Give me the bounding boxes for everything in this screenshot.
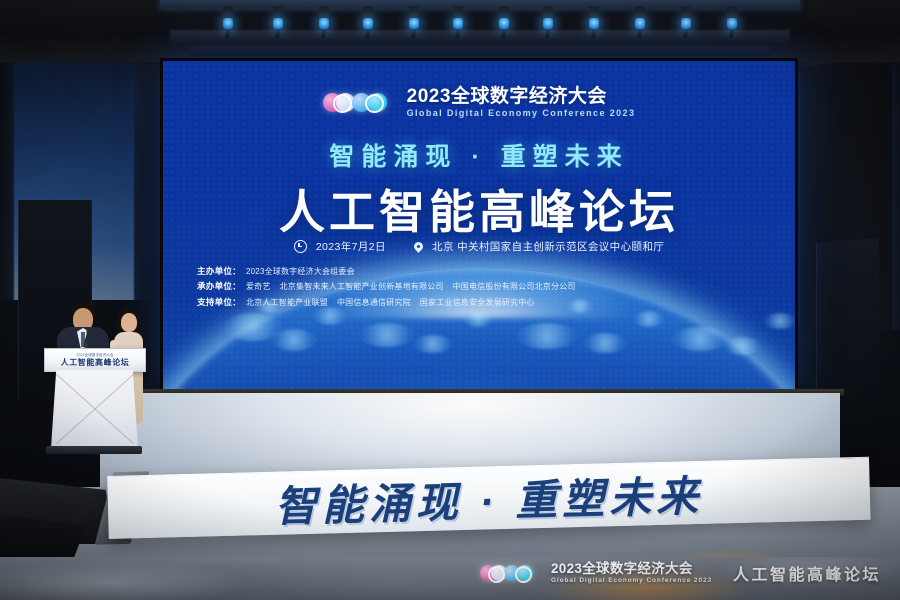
stage-light-2 — [272, 6, 284, 36]
organizer-values: 2023全球数字经济大会组委会 — [246, 267, 364, 276]
gdec-logo-icon-bottom — [480, 563, 542, 583]
stage-light-4 — [362, 6, 374, 36]
bottom-forum-cn: 人工智能高峰论坛 — [733, 561, 881, 585]
conference-name-en: Global Digital Economy Conference 2023 — [407, 109, 636, 118]
organizer-item: 2023全球数字经济大会组委会 — [246, 267, 355, 276]
podium-sign: 2023全球数字经济大会 人工智能高峰论坛 — [44, 348, 146, 372]
event-date: 2023年7月2日 — [316, 239, 386, 254]
ceiling-band-lower — [190, 46, 770, 56]
location-pin-icon — [412, 240, 425, 253]
podium-sign-text: 人工智能高峰论坛 — [45, 357, 145, 368]
organizer-values: 爱奇艺北京集智未来人工智能产业创新基地有限公司中国电信股份有限公司北京分公司 — [246, 282, 585, 291]
podium-logo-text: 2023全球数字经济大会 — [76, 352, 113, 357]
conference-stage-photo: 2023全球数字经济大会 Global Digital Economy Conf… — [0, 0, 900, 600]
event-venue: 北京 中关村国家自主创新示范区会议中心颐和厅 — [432, 239, 664, 254]
stage-light-11 — [680, 6, 692, 36]
event-meta-row: 2023年7月2日 北京 中关村国家自主创新示范区会议中心颐和厅 — [163, 239, 795, 254]
bottom-conference-en: Global Digital Economy Conference 2023 — [551, 578, 712, 585]
organizer-item: 北京集智未来人工智能产业创新基地有限公司 — [280, 282, 444, 291]
ceiling-band-upper — [170, 30, 790, 46]
bottom-strip: 2023全球数字经济大会 Global Digital Economy Conf… — [0, 557, 900, 600]
stage-light-9 — [588, 6, 600, 36]
lighting-truss — [160, 0, 800, 9]
stage-light-1 — [222, 6, 234, 36]
stage-light-3 — [318, 6, 330, 36]
organizer-label: 承办单位： — [197, 281, 241, 291]
stage-light-12 — [726, 6, 738, 36]
podium-body — [51, 370, 138, 448]
podium: 2023全球数字经济大会 人工智能高峰论坛 — [44, 348, 144, 454]
organizer-item: 北京人工智能产业联盟 — [246, 298, 328, 307]
organizers-block: 主办单位：2023全球数字经济大会组委会承办单位：爱奇艺北京集智未来人工智能产业… — [197, 264, 585, 310]
stage-light-5 — [408, 6, 420, 36]
stage-light-10 — [634, 6, 646, 36]
stage-light-8 — [542, 6, 554, 36]
organizer-line-3: 支持单位：北京人工智能产业联盟中国信息通信研究院国家工业信息安全发展研究中心 — [197, 295, 585, 310]
organizer-line-1: 主办单位：2023全球数字经济大会组委会 — [197, 264, 585, 279]
organizer-line-2: 承办单位：爱奇艺北京集智未来人工智能产业创新基地有限公司中国电信股份有限公司北京… — [197, 279, 585, 294]
stage-light-7 — [498, 6, 510, 36]
organizer-item: 国家工业信息安全发展研究中心 — [420, 298, 535, 307]
bottom-conference-cn: 2023全球数字经济大会 — [551, 562, 712, 576]
screen-subtitle: 智能涌现 · 重塑未来 — [163, 137, 795, 173]
conference-name-cn: 2023全球数字经济大会 — [407, 87, 636, 106]
stage-front-banner: 智能涌现 · 重塑未来 — [107, 457, 870, 539]
clock-icon — [294, 240, 307, 253]
stage-front-banner-wrap: 智能涌现 · 重塑未来 — [0, 470, 900, 556]
led-screen: 2023全球数字经济大会 Global Digital Economy Conf… — [163, 61, 795, 390]
organizer-values: 北京人工智能产业联盟中国信息通信研究院国家工业信息安全发展研究中心 — [246, 298, 544, 307]
podium-cross-pattern — [52, 370, 138, 448]
stage-light-6 — [452, 6, 464, 36]
screen-header: 2023全球数字经济大会 Global Digital Economy Conf… — [163, 87, 795, 118]
organizer-label: 支持单位： — [197, 297, 241, 307]
screen-main-title: 人工智能高峰论坛 — [163, 176, 795, 242]
organizer-label: 主办单位： — [197, 266, 241, 276]
organizer-item: 爱奇艺 — [246, 282, 271, 291]
organizer-item: 中国信息通信研究院 — [337, 298, 411, 307]
gdec-logo-icon — [323, 91, 397, 115]
stage-banner-text: 智能涌现 · 重塑未来 — [107, 458, 870, 538]
organizer-item: 中国电信股份有限公司北京分公司 — [453, 282, 576, 291]
podium-base — [46, 446, 142, 454]
